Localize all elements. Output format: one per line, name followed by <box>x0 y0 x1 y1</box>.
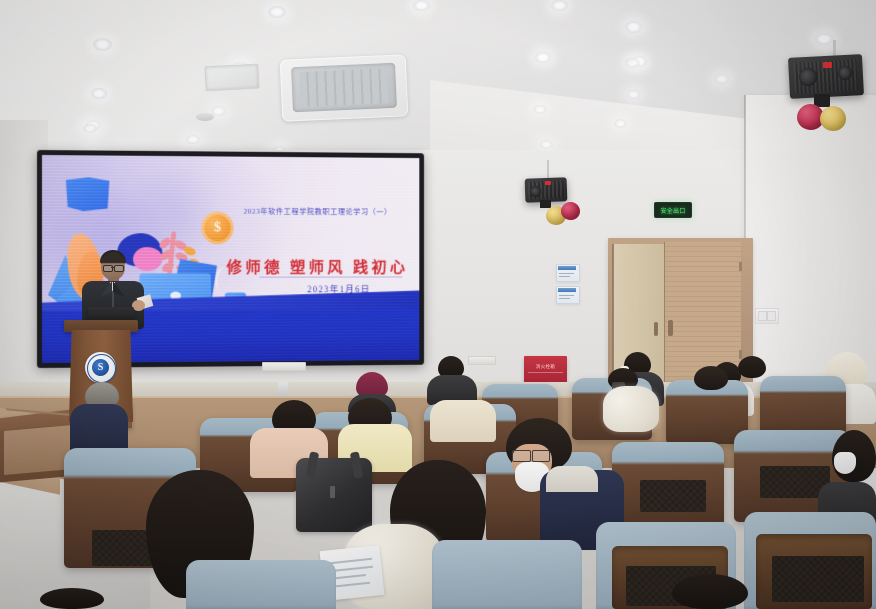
seat-cushion <box>186 560 336 609</box>
fire-cabinet-divider <box>528 372 563 373</box>
light-switch-icon[interactable] <box>758 311 767 321</box>
balloon-gold <box>820 106 846 131</box>
speaker-brand-logo <box>545 181 551 185</box>
exit-sign-label: 安全出口 <box>661 206 686 215</box>
downlight-icon <box>625 21 642 33</box>
ac-grille-icon <box>299 68 388 107</box>
downlight-icon <box>91 88 107 99</box>
lecture-hall-photo: $ 2023年软件工程学院教职工理论学习（一） <box>0 0 876 609</box>
audience-head <box>672 574 748 609</box>
fire-cabinet-label: 消火栓箱 <box>524 364 567 370</box>
wall-outlet-icon <box>262 362 306 371</box>
downlight-icon <box>268 6 286 18</box>
audience-head <box>694 366 728 390</box>
wall-plaque-text-line <box>559 298 570 299</box>
downlight-icon <box>715 74 729 84</box>
door-handle-icon[interactable] <box>654 322 658 336</box>
seat-back-net <box>772 556 864 602</box>
downlight-icon <box>533 105 547 114</box>
smoke-detector-icon <box>196 113 214 121</box>
presenter-laptop <box>88 307 134 321</box>
presenter-glasses-bridge <box>111 267 114 268</box>
speaker-cone-icon <box>838 66 852 80</box>
fur-coat <box>603 386 659 432</box>
speaker-brand-logo <box>823 62 832 68</box>
light-switch-icon[interactable] <box>767 311 776 321</box>
coat-collar <box>546 466 598 492</box>
door-hinge-icon <box>739 262 742 271</box>
wall-plaque-header <box>558 266 576 270</box>
glasses-icon <box>512 450 531 462</box>
balloon-red <box>561 202 580 220</box>
downlight-icon <box>551 0 568 11</box>
door-handle-icon[interactable] <box>668 320 673 336</box>
downlight-icon <box>186 135 200 144</box>
audience-head <box>40 588 104 609</box>
glasses-icon <box>532 450 550 462</box>
speaker-cone-icon <box>799 68 817 86</box>
downlight-icon <box>83 124 97 133</box>
seat-back-net <box>640 480 706 512</box>
emergency-exit-sign: 安全出口 <box>654 202 692 218</box>
ceiling-vent-icon <box>204 64 259 92</box>
downlight-icon <box>627 90 640 99</box>
wall-plaque-header <box>558 288 576 292</box>
wall-plaque-text-line <box>559 273 574 274</box>
downlight-icon <box>535 52 551 63</box>
emblem-letter: S <box>92 359 109 376</box>
wall-plaque-text-line <box>559 276 570 277</box>
face-mask-icon <box>834 452 856 474</box>
downlight-icon <box>815 33 833 45</box>
speaker-mount-rod <box>547 160 549 178</box>
backpack-zipper <box>330 486 335 498</box>
audience-coat <box>430 400 496 442</box>
door-hinge-icon <box>739 350 742 359</box>
cup-icon <box>278 382 288 396</box>
seat-cushion <box>432 540 582 609</box>
wall-plaque-text-line <box>559 295 574 296</box>
wall-outlet-icon <box>468 356 496 365</box>
audience-head <box>738 356 766 378</box>
downlight-icon <box>625 58 640 68</box>
downlight-icon <box>540 140 553 149</box>
downlight-icon <box>614 119 627 128</box>
presenter-glasses-icon <box>114 265 124 272</box>
speaker-cone-icon <box>530 186 541 197</box>
downlight-icon <box>93 38 112 51</box>
downlight-icon <box>413 0 430 11</box>
